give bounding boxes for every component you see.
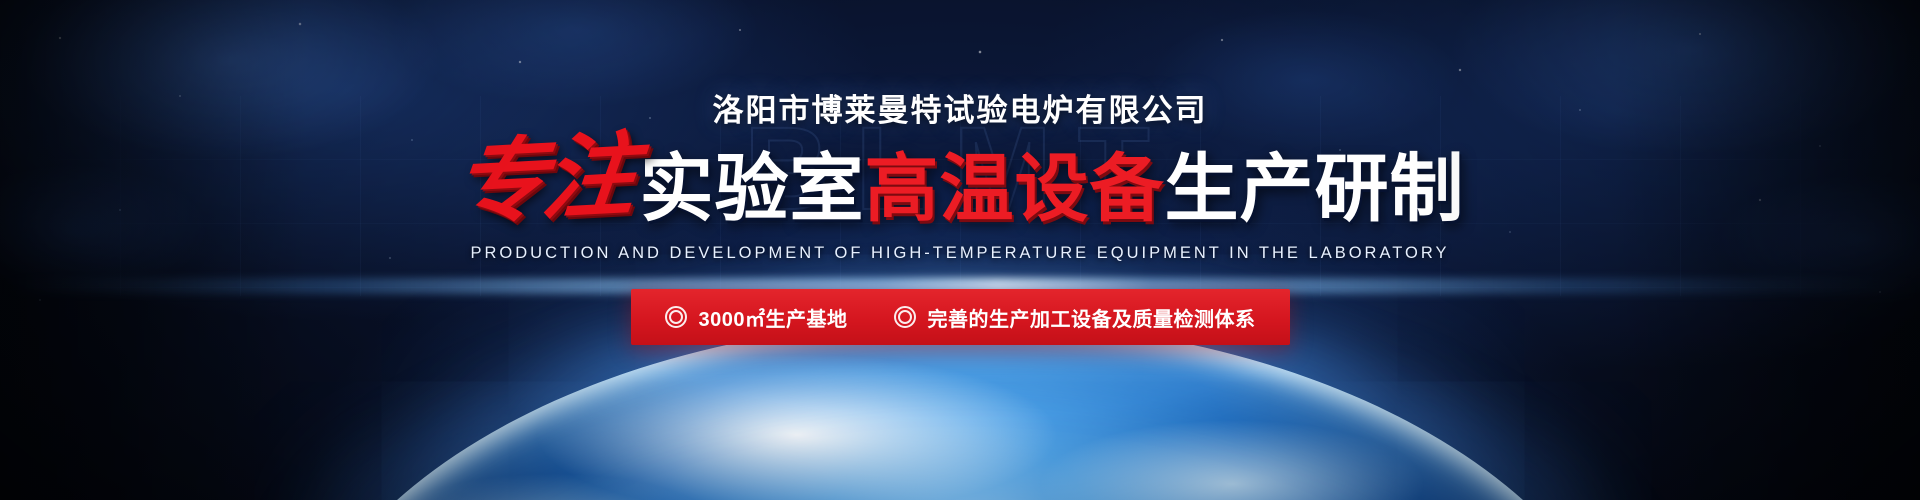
banner-content: 洛阳市博莱曼特试验电炉有限公司 专注 实验室 高温设备 生产研制 PRODUCT…	[0, 0, 1920, 500]
headline-segment-laboratory: 实验室	[640, 152, 865, 226]
subtitle-english: PRODUCTION AND DEVELOPMENT OF HIGH-TEMPE…	[471, 244, 1450, 263]
feature-badge-bar: 3000㎡生产基地 完善的生产加工设备及质量检测体系	[631, 289, 1290, 345]
hero-banner: BLMT 洛阳市博莱曼特试验电炉有限公司 专注 实验室 高温设备 生产研制 PR…	[0, 0, 1920, 500]
badge-label-quality-system: 完善的生产加工设备及质量检测体系	[928, 303, 1256, 332]
company-name: 洛阳市博莱曼特试验电炉有限公司	[713, 94, 1208, 128]
badge-item-production-base: 3000㎡生产基地	[665, 303, 848, 332]
badge-item-quality-system: 完善的生产加工设备及质量检测体系	[894, 303, 1256, 332]
double-circle-icon	[665, 306, 687, 328]
double-circle-icon	[894, 306, 916, 328]
headline: 专注 实验室 高温设备 生产研制	[455, 134, 1464, 226]
badge-label-production-base: 3000㎡生产基地	[699, 303, 848, 332]
headline-brush-word: 专注	[450, 130, 637, 231]
headline-segment-high-temp-equipment: 高温设备	[865, 152, 1165, 226]
headline-segment-production-development: 生产研制	[1165, 152, 1465, 226]
